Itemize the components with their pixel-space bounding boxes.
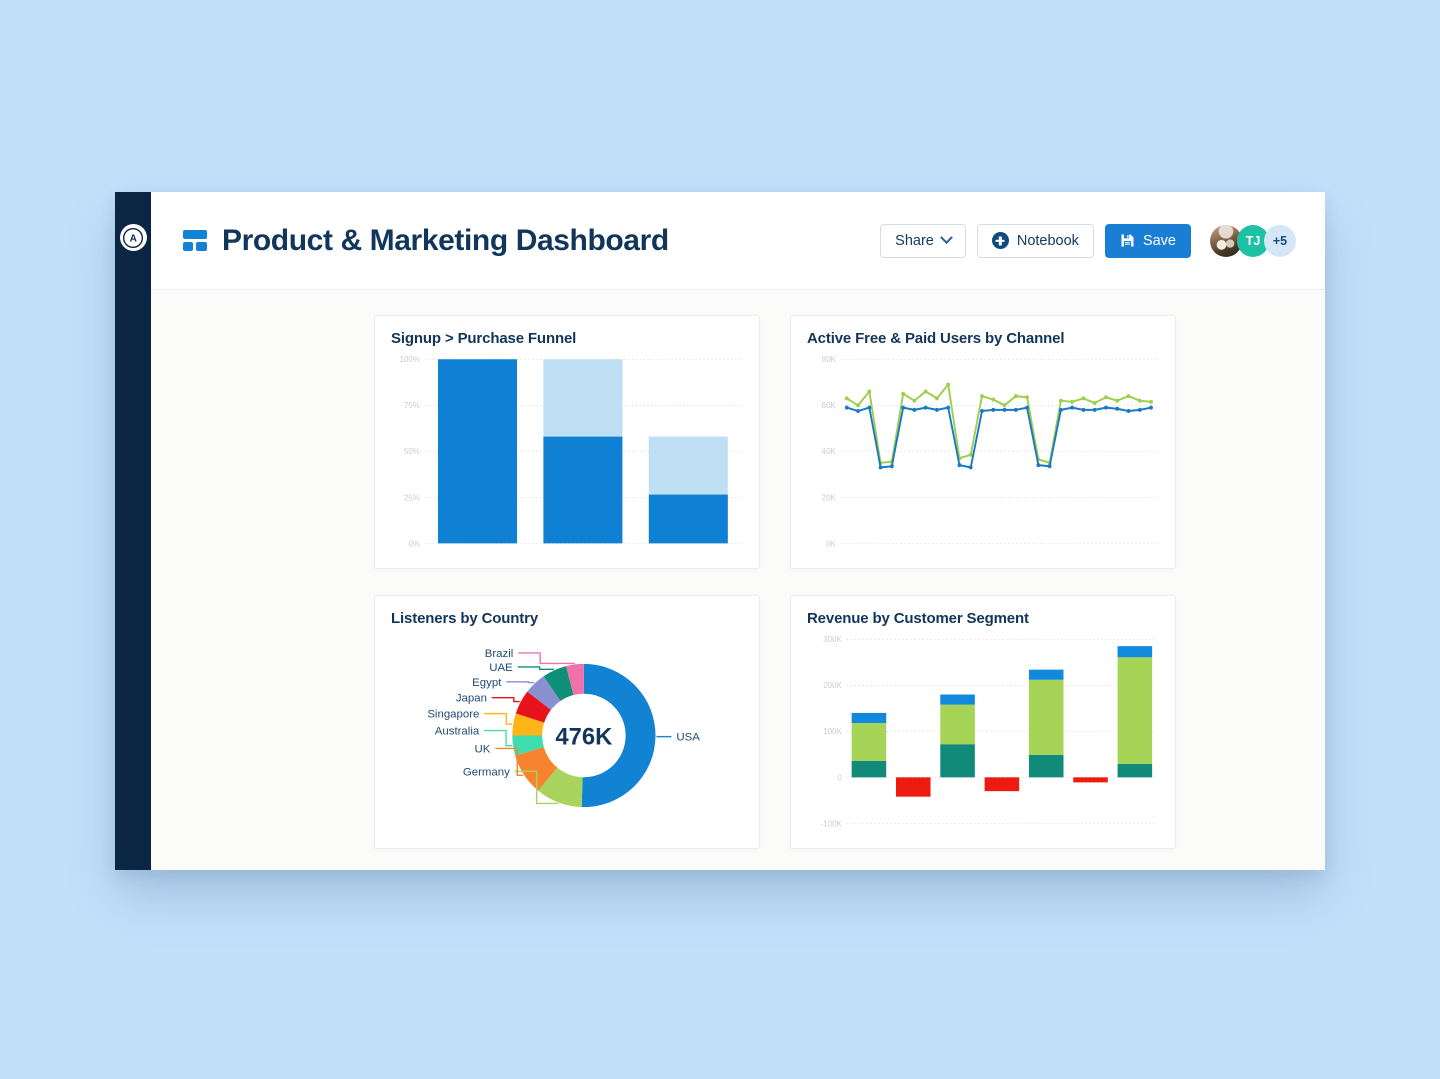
svg-text:Japan: Japan bbox=[456, 693, 487, 705]
header-actions: Share Notebook bbox=[880, 224, 1296, 258]
avatar-overflow-label: +5 bbox=[1273, 234, 1287, 248]
svg-text:Egypt: Egypt bbox=[472, 677, 502, 689]
save-button-label: Save bbox=[1143, 233, 1176, 249]
svg-text:A: A bbox=[130, 233, 138, 244]
svg-text:0: 0 bbox=[837, 773, 842, 782]
svg-text:USA: USA bbox=[676, 732, 700, 744]
svg-text:40K: 40K bbox=[822, 447, 837, 456]
app-header: Product & Marketing Dashboard Share Note… bbox=[151, 192, 1325, 290]
title-area: Product & Marketing Dashboard bbox=[183, 224, 880, 258]
plus-circle-icon bbox=[992, 232, 1009, 249]
card-revenue-by-customer-segment[interactable]: Revenue by Customer Segment 300K200K100K… bbox=[790, 595, 1176, 849]
listeners-donut-chart-plot: 476KUSAGermanyUKAustraliaSingaporeJapanE… bbox=[391, 633, 743, 838]
svg-text:0%: 0% bbox=[408, 539, 419, 548]
share-button-label: Share bbox=[895, 233, 934, 249]
svg-text:100K: 100K bbox=[823, 727, 842, 736]
revenue-chart-plot: 300K200K100K0-100K bbox=[807, 633, 1159, 838]
svg-text:300K: 300K bbox=[823, 635, 842, 644]
svg-text:Brazil: Brazil bbox=[485, 648, 514, 660]
svg-text:UAE: UAE bbox=[489, 662, 513, 674]
card-title: Active Free & Paid Users by Channel bbox=[807, 330, 1159, 347]
page-title: Product & Marketing Dashboard bbox=[222, 224, 669, 258]
svg-text:50%: 50% bbox=[404, 447, 420, 456]
svg-text:UK: UK bbox=[475, 743, 491, 755]
svg-text:80K: 80K bbox=[822, 355, 837, 364]
svg-text:75%: 75% bbox=[404, 401, 420, 410]
svg-text:25%: 25% bbox=[404, 493, 420, 502]
card-title: Signup > Purchase Funnel bbox=[391, 330, 743, 347]
svg-text:Germany: Germany bbox=[463, 766, 510, 778]
screen: A Product & Marketing Dashboard Share bbox=[0, 0, 1440, 1079]
save-button[interactable]: Save bbox=[1105, 224, 1191, 258]
card-title: Listeners by Country bbox=[391, 610, 743, 627]
svg-text:100%: 100% bbox=[399, 355, 419, 364]
notebook-button[interactable]: Notebook bbox=[977, 224, 1094, 258]
floppy-disk-icon bbox=[1120, 233, 1135, 248]
svg-text:476K: 476K bbox=[555, 723, 613, 750]
card-active-users-by-channel[interactable]: Active Free & Paid Users by Channel 80K6… bbox=[790, 315, 1176, 569]
chevron-down-icon bbox=[940, 231, 953, 244]
card-listeners-by-country[interactable]: Listeners by Country 476KUSAGermanyUKAus… bbox=[374, 595, 760, 849]
notebook-button-label: Notebook bbox=[1017, 233, 1079, 249]
dashboard-grid-icon bbox=[183, 228, 208, 253]
svg-text:20K: 20K bbox=[822, 493, 837, 502]
dashboard-canvas: Signup > Purchase Funnel 100%75%50%25%0%… bbox=[151, 290, 1325, 870]
svg-text:-100K: -100K bbox=[821, 819, 843, 828]
svg-text:0K: 0K bbox=[826, 539, 836, 548]
svg-text:Australia: Australia bbox=[435, 726, 480, 738]
svg-text:Singapore: Singapore bbox=[427, 709, 479, 721]
main-column: Product & Marketing Dashboard Share Note… bbox=[151, 192, 1325, 870]
chart-grid: Signup > Purchase Funnel 100%75%50%25%0%… bbox=[151, 315, 1325, 849]
funnel-chart-plot: 100%75%50%25%0% bbox=[391, 353, 743, 558]
svg-text:200K: 200K bbox=[823, 681, 842, 690]
avatar-initials-label: TJ bbox=[1246, 234, 1261, 248]
channel-line-chart-plot: 80K60K40K20K0K bbox=[807, 353, 1159, 558]
card-signup-purchase-funnel[interactable]: Signup > Purchase Funnel 100%75%50%25%0% bbox=[374, 315, 760, 569]
left-sidebar: A bbox=[115, 192, 151, 870]
avatar-overflow-count[interactable]: +5 bbox=[1264, 225, 1296, 257]
svg-text:60K: 60K bbox=[822, 401, 837, 410]
share-button[interactable]: Share bbox=[880, 224, 966, 258]
app-logo-icon[interactable]: A bbox=[120, 224, 147, 251]
avatar-group: TJ +5 bbox=[1210, 225, 1296, 257]
card-title: Revenue by Customer Segment bbox=[807, 610, 1159, 627]
app-window: A Product & Marketing Dashboard Share bbox=[115, 192, 1325, 870]
